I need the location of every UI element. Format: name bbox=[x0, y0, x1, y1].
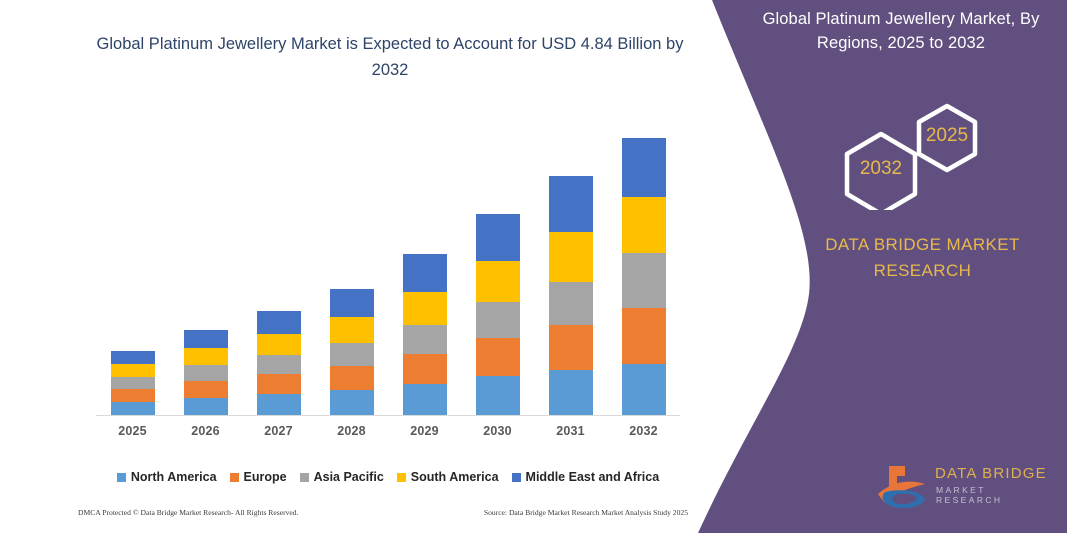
legend-item-middle-east-and-africa[interactable]: Middle East and Africa bbox=[512, 470, 660, 484]
bar-segment[interactable] bbox=[257, 311, 301, 334]
bar-segment[interactable] bbox=[330, 317, 374, 343]
bar-segment[interactable] bbox=[476, 302, 520, 338]
logo-text-main: DATA BRIDGE bbox=[935, 465, 1047, 482]
bar-segment[interactable] bbox=[111, 389, 155, 402]
chart-legend: North AmericaEuropeAsia PacificSouth Ame… bbox=[96, 470, 680, 484]
x-axis-tick-labels: 20252026202720282029203020312032 bbox=[96, 424, 680, 444]
footer-source: Source: Data Bridge Market Research Mark… bbox=[484, 508, 688, 517]
hexagon-2032-shape bbox=[847, 134, 915, 210]
legend-swatch-icon bbox=[397, 473, 406, 482]
bar-group-2029[interactable] bbox=[403, 254, 447, 416]
footer: DMCA Protected © Data Bridge Market Rese… bbox=[78, 508, 688, 517]
infographic-page: Global Platinum Jewellery Market, By Reg… bbox=[0, 0, 1067, 533]
logo-mark-icon bbox=[875, 463, 933, 511]
legend-swatch-icon bbox=[512, 473, 521, 482]
bar-segment[interactable] bbox=[257, 374, 301, 394]
bar-segment[interactable] bbox=[476, 261, 520, 302]
legend-item-north-america[interactable]: North America bbox=[117, 470, 217, 484]
legend-label: South America bbox=[411, 470, 499, 484]
legend-label: Asia Pacific bbox=[314, 470, 384, 484]
x-tick-2031: 2031 bbox=[534, 424, 607, 438]
bar-segment[interactable] bbox=[184, 381, 228, 398]
bar-segment[interactable] bbox=[257, 334, 301, 355]
x-tick-2030: 2030 bbox=[461, 424, 534, 438]
x-tick-2029: 2029 bbox=[388, 424, 461, 438]
bar-segment[interactable] bbox=[549, 176, 593, 232]
bar-segment[interactable] bbox=[476, 338, 520, 376]
bar-segment[interactable] bbox=[184, 348, 228, 365]
brand-name: DATA BRIDGE MARKET RESEARCH bbox=[790, 232, 1055, 283]
bar-segment[interactable] bbox=[403, 354, 447, 384]
bar-group-2026[interactable] bbox=[184, 330, 228, 416]
data-bridge-logo: DATA BRIDGE MARKET RESEARCH bbox=[875, 463, 1050, 511]
bar-segment[interactable] bbox=[330, 366, 374, 390]
bar-segment[interactable] bbox=[184, 365, 228, 381]
page-title: Global Platinum Jewellery Market is Expe… bbox=[85, 32, 695, 83]
bar-segment[interactable] bbox=[622, 197, 666, 253]
bar-group-2032[interactable] bbox=[622, 138, 666, 416]
footer-copyright: DMCA Protected © Data Bridge Market Rese… bbox=[78, 508, 298, 517]
bar-segment[interactable] bbox=[403, 325, 447, 354]
bar-segment[interactable] bbox=[330, 390, 374, 416]
x-axis-line bbox=[96, 415, 680, 416]
bar-segment[interactable] bbox=[257, 355, 301, 374]
bar-segment[interactable] bbox=[622, 308, 666, 364]
legend-item-asia-pacific[interactable]: Asia Pacific bbox=[300, 470, 384, 484]
bar-segment[interactable] bbox=[476, 214, 520, 261]
bar-segment[interactable] bbox=[330, 343, 374, 366]
legend-swatch-icon bbox=[300, 473, 309, 482]
x-tick-2025: 2025 bbox=[96, 424, 169, 438]
legend-label: Europe bbox=[244, 470, 287, 484]
bar-segment[interactable] bbox=[549, 232, 593, 282]
legend-swatch-icon bbox=[230, 473, 239, 482]
bar-segment[interactable] bbox=[549, 325, 593, 370]
bar-segment[interactable] bbox=[184, 398, 228, 416]
stacked-bar-chart bbox=[96, 120, 680, 416]
x-tick-2026: 2026 bbox=[169, 424, 242, 438]
logo-text-sub: MARKET RESEARCH bbox=[936, 485, 1050, 505]
bar-segment[interactable] bbox=[257, 394, 301, 416]
legend-item-south-america[interactable]: South America bbox=[397, 470, 499, 484]
bar-group-2031[interactable] bbox=[549, 176, 593, 416]
legend-swatch-icon bbox=[117, 473, 126, 482]
bar-segment[interactable] bbox=[111, 351, 155, 364]
bar-group-2025[interactable] bbox=[111, 351, 155, 416]
legend-item-europe[interactable]: Europe bbox=[230, 470, 287, 484]
bar-segment[interactable] bbox=[330, 289, 374, 317]
x-tick-2027: 2027 bbox=[242, 424, 315, 438]
bar-segment[interactable] bbox=[622, 364, 666, 416]
bar-segment[interactable] bbox=[403, 384, 447, 416]
bar-segment[interactable] bbox=[111, 364, 155, 377]
legend-label: Middle East and Africa bbox=[526, 470, 660, 484]
bar-segment[interactable] bbox=[403, 254, 447, 292]
legend-label: North America bbox=[131, 470, 217, 484]
bar-segment[interactable] bbox=[111, 377, 155, 389]
bar-segment[interactable] bbox=[476, 376, 520, 416]
hexagon-badges: 2032 2025 bbox=[820, 100, 1040, 210]
panel-title: Global Platinum Jewellery Market, By Reg… bbox=[742, 8, 1060, 56]
hexagon-2025-shape bbox=[919, 106, 975, 170]
bar-segment[interactable] bbox=[184, 330, 228, 348]
bar-segment[interactable] bbox=[403, 292, 447, 325]
bar-segment[interactable] bbox=[622, 138, 666, 197]
bar-segment[interactable] bbox=[549, 282, 593, 325]
bar-group-2028[interactable] bbox=[330, 289, 374, 416]
x-tick-2032: 2032 bbox=[607, 424, 680, 438]
x-tick-2028: 2028 bbox=[315, 424, 388, 438]
bar-segment[interactable] bbox=[549, 370, 593, 416]
bar-segment[interactable] bbox=[622, 253, 666, 308]
bar-segment[interactable] bbox=[111, 402, 155, 416]
bar-group-2030[interactable] bbox=[476, 214, 520, 416]
bar-group-2027[interactable] bbox=[257, 311, 301, 416]
